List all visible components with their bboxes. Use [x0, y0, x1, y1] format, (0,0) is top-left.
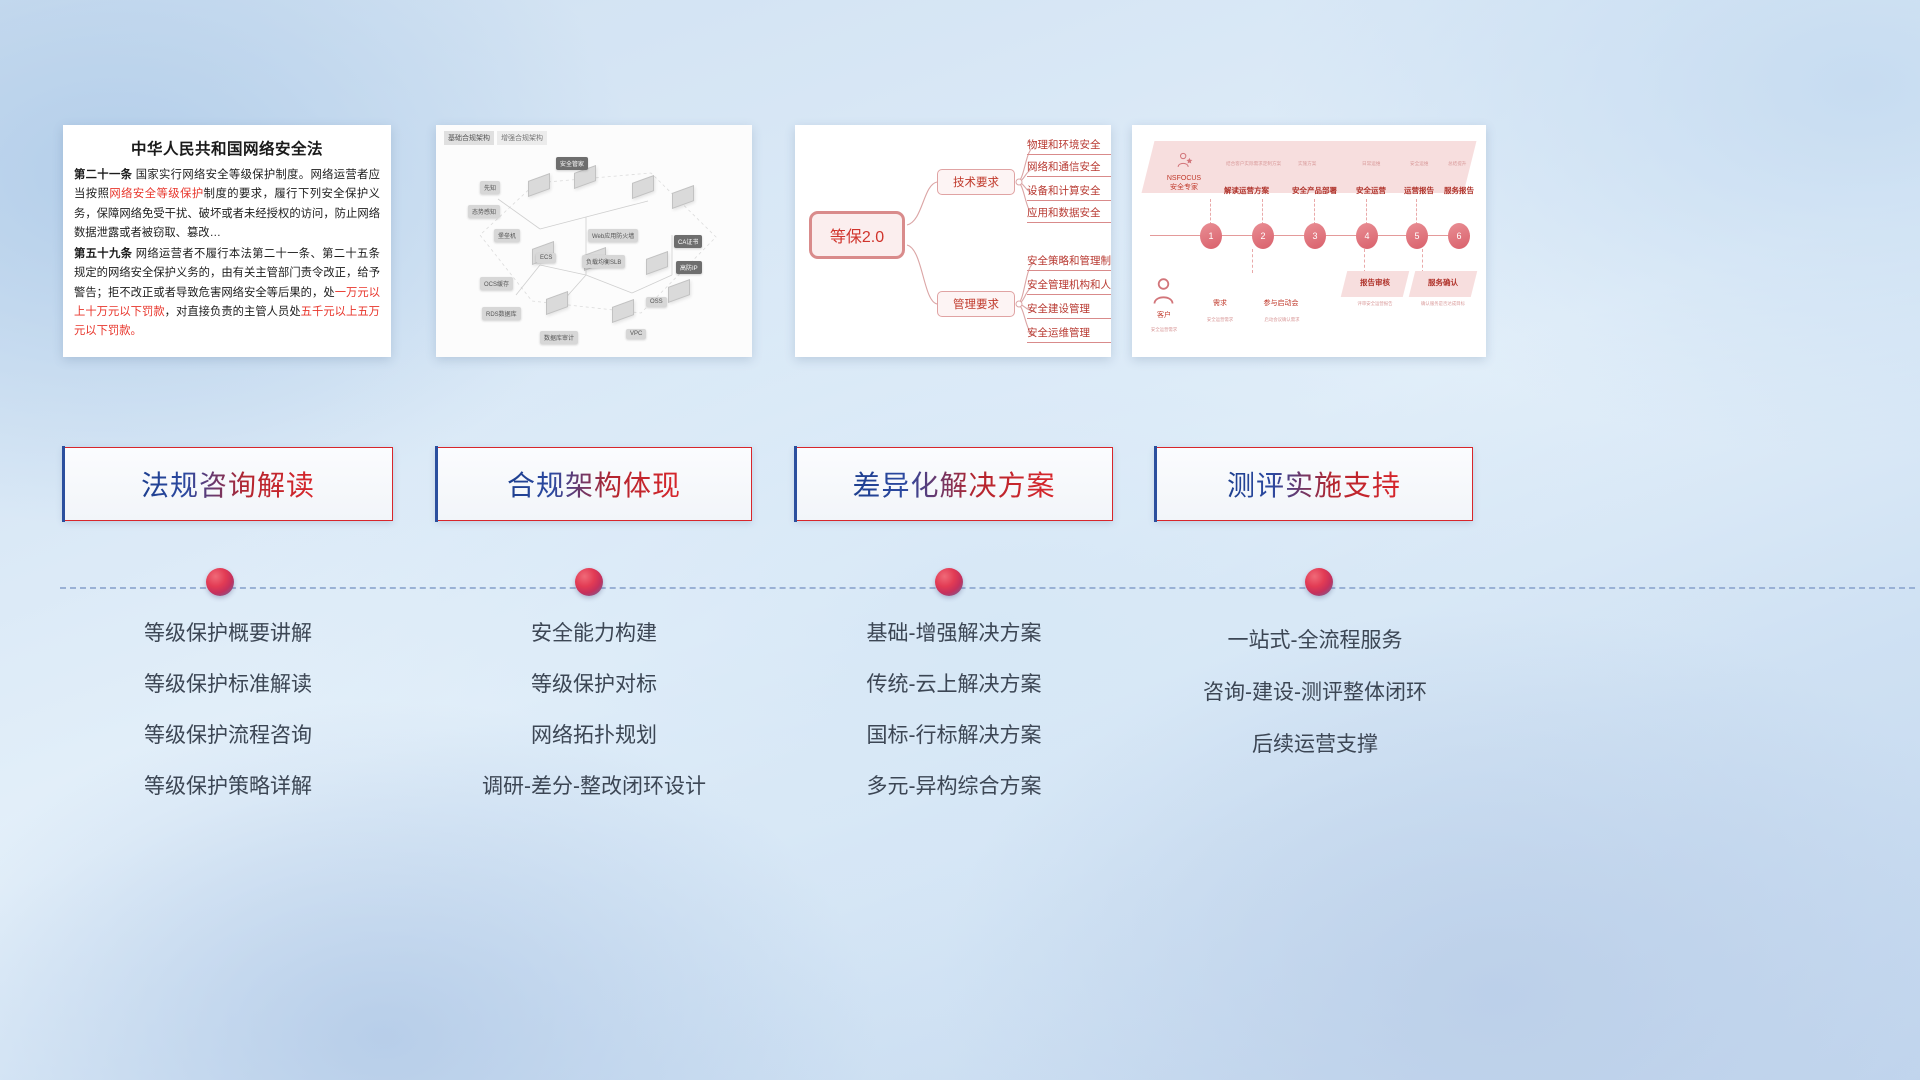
law-title: 中华人民共和国网络安全法 — [63, 137, 391, 159]
nsfocus-top-band-content: NSFOCUS 安全专家 结合客户实际需求定制方案 解读运营方案 实施方案 安全… — [1148, 141, 1470, 193]
arch-node-situational: 态势感知 — [468, 205, 500, 218]
list-item: 基础-增强解决方案 — [795, 608, 1113, 659]
title-box-differentiated-solution[interactable]: 差异化解决方案 — [795, 447, 1113, 521]
mindmap-leaf-org: 安全管理机构和人员 — [1027, 277, 1111, 295]
mindmap-leaf-physical: 物理和环境安全 — [1027, 137, 1111, 155]
nsfocus-connector-3 — [1314, 199, 1315, 225]
arch-node-db-audit: 数据库审计 — [540, 331, 578, 344]
nsfocus-connector-6 — [1252, 249, 1253, 273]
mindmap-leaf-build: 安全建设管理 — [1027, 301, 1111, 319]
arch-node-ocs: OCS缓存 — [480, 277, 513, 290]
nsfocus-step5-title: 服务报告 — [1444, 185, 1474, 196]
list-item: 咨询-建设-测评整体闭环 — [1155, 667, 1475, 719]
list-item: 传统-云上解决方案 — [795, 659, 1113, 710]
nsfocus-connector-8 — [1422, 249, 1423, 273]
nsfocus-demand-title: 需求 — [1198, 299, 1242, 308]
article-21-label: 第二十一条 — [74, 169, 132, 181]
arch-node-waf: Web应用防火墙 — [588, 229, 638, 242]
list-item: 等级保护概要讲解 — [63, 608, 393, 659]
nsfocus-step-dot-6: 6 — [1448, 223, 1470, 249]
title-text-2: 合规架构体现 — [507, 464, 681, 504]
bullet-lists-row: 等级保护概要讲解 等级保护标准解读 等级保护流程咨询 等级保护策略详解 安全能力… — [0, 608, 1920, 818]
list-item: 等级保护策略详解 — [63, 761, 393, 812]
mindmap-root-node[interactable]: 等保2.0 — [809, 211, 905, 259]
mindmap-branch-technical[interactable]: 技术要求 — [937, 169, 1015, 195]
nsfocus-expert-block: NSFOCUS 安全专家 — [1158, 151, 1210, 192]
title-box-compliance-architecture[interactable]: 合规架构体现 — [436, 447, 752, 521]
timeline-dot-2[interactable] — [575, 568, 603, 596]
nsfocus-report-review-sub: 评审安全运营报告 — [1338, 301, 1412, 307]
title-text-1: 法规咨询解读 — [141, 464, 315, 504]
law-body: 第二十一条 国家实行网络安全等级保护制度。网络运营者应当按照网络安全等级保护制度… — [63, 159, 391, 342]
list-item: 后续运营支撑 — [1155, 719, 1475, 771]
article-21-highlight: 网络安全等级保护 — [109, 188, 203, 200]
arch-node-ecs: ECS — [536, 253, 556, 263]
nsfocus-service-confirm-sub: 确认服务是否达成目标 — [1404, 301, 1482, 307]
nsfocus-step1-sub: 结合客户实际需求定制方案 — [1226, 161, 1281, 167]
arch-node-xianzhi: 先知 — [480, 181, 500, 194]
top-cards-row: 中华人民共和国网络安全法 第二十一条 国家实行网络安全等级保护制度。网络运营者应… — [0, 125, 1920, 357]
nsfocus-step4-title: 运营报告 — [1404, 185, 1434, 196]
title-box-evaluation-support[interactable]: 测评实施支持 — [1155, 447, 1473, 521]
card-compliance-architecture[interactable]: 基础合规架构 增强合规架构 — [436, 125, 752, 357]
mindmap: 等保2.0 技术要求 管理要求 物理和环境安全 网络和通信安全 设备和计算安全 … — [795, 125, 1111, 357]
arch-node-ca-cert: CA证书 — [674, 235, 702, 248]
article-59-label: 第五十九条 — [74, 248, 132, 260]
nsfocus-connector-7 — [1364, 249, 1365, 273]
list-differentiated-solution: 基础-增强解决方案 传统-云上解决方案 国标-行标解决方案 多元-异构综合方案 — [795, 608, 1113, 812]
timeline-dot-4[interactable] — [1305, 568, 1333, 596]
arch-node-anti-ddos: 高防IP — [676, 261, 702, 274]
nsfocus-demand-sub: 安全运营需求 — [1190, 317, 1250, 323]
arch-node-security-butler: 安全管家 — [556, 157, 588, 170]
nsfocus-flow: NSFOCUS 安全专家 结合客户实际需求定制方案 解读运营方案 实施方案 安全… — [1132, 125, 1486, 357]
list-item: 等级保护对标 — [436, 659, 752, 710]
nsfocus-connector-1 — [1210, 199, 1211, 225]
arch-node-rds: RDS数据库 — [482, 307, 521, 320]
mindmap-branch-management[interactable]: 管理要求 — [937, 291, 1015, 317]
nsfocus-connector-5 — [1416, 199, 1417, 225]
article-59-text-b: ，对直接负责的主管人员处 — [165, 306, 301, 318]
list-item: 国标-行标解决方案 — [795, 710, 1113, 761]
expert-label-line2: 安全专家 — [1158, 184, 1210, 193]
mindmap-leaf-ops: 安全运维管理 — [1027, 325, 1111, 343]
nsfocus-report-review-title: 报告审核 — [1344, 277, 1406, 288]
section-title-row: 法规咨询解读 合规架构体现 差异化解决方案 测评实施支持 — [0, 447, 1920, 521]
nsfocus-kickoff-title: 参与启动会 — [1250, 299, 1312, 308]
nsfocus-step3-title: 安全运营 — [1356, 185, 1386, 196]
list-item: 网络拓扑规划 — [436, 710, 752, 761]
arch-node-oss: OSS — [646, 297, 667, 307]
arch-node-vpc: VPC — [626, 329, 646, 339]
timeline-dot-3[interactable] — [935, 568, 963, 596]
list-item: 多元-异构综合方案 — [795, 761, 1113, 812]
mindmap-leaf-app-data: 应用和数据安全 — [1027, 205, 1111, 223]
list-item: 一站式-全流程服务 — [1155, 615, 1475, 667]
timeline — [60, 568, 1920, 608]
card-nsfocus-service-flow[interactable]: NSFOCUS 安全专家 结合客户实际需求定制方案 解读运营方案 实施方案 安全… — [1132, 125, 1486, 357]
law-article-21: 第二十一条 国家实行网络安全等级保护制度。网络运营者应当按照网络安全等级保护制度… — [74, 166, 380, 244]
nsfocus-step4-sub: 安全运维 — [1410, 161, 1428, 167]
timeline-dashed-line — [60, 587, 1915, 589]
nsfocus-connector-2 — [1262, 199, 1263, 225]
list-compliance-architecture: 安全能力构建 等级保护对标 网络拓扑规划 调研-差分-整改闭环设计 — [436, 608, 752, 812]
list-item: 安全能力构建 — [436, 608, 752, 659]
nsfocus-step2-title: 安全产品部署 — [1292, 185, 1337, 196]
card-mindmap-dengbao[interactable]: 等保2.0 技术要求 管理要求 物理和环境安全 网络和通信安全 设备和计算安全 … — [795, 125, 1111, 357]
nsfocus-step2-sub: 实施方案 — [1298, 161, 1316, 167]
list-regulation-consulting: 等级保护概要讲解 等级保护标准解读 等级保护流程咨询 等级保护策略详解 — [63, 608, 393, 812]
nsfocus-kickoff-sub: 启动会议确认需求 — [1244, 317, 1320, 323]
customer-person-icon — [1142, 275, 1188, 311]
law-article-59: 第五十九条 网络运营者不履行本法第二十一条、第二十五条规定的网络安全保护义务的，… — [74, 245, 380, 342]
nsfocus-step-dot-2: 2 — [1252, 223, 1274, 249]
mindmap-leaf-network: 网络和通信安全 — [1027, 159, 1111, 177]
nsfocus-step3-sub: 日常运维 — [1362, 161, 1380, 167]
nsfocus-service-confirm-title: 服务确认 — [1412, 277, 1474, 288]
card-cybersecurity-law[interactable]: 中华人民共和国网络安全法 第二十一条 国家实行网络安全等级保护制度。网络运营者应… — [63, 125, 391, 357]
nsfocus-customer-sub: 安全运营需求 — [1132, 327, 1196, 333]
nsfocus-step-dot-5: 5 — [1406, 223, 1428, 249]
title-box-regulation-consulting[interactable]: 法规咨询解读 — [63, 447, 393, 521]
arch-node-bastion: 堡垒机 — [494, 229, 520, 242]
architecture-diagram: 基础合规架构 增强合规架构 — [436, 125, 752, 357]
list-item: 等级保护标准解读 — [63, 659, 393, 710]
mindmap-leaf-policy: 安全策略和管理制度 — [1027, 253, 1111, 271]
list-item: 等级保护流程咨询 — [63, 710, 393, 761]
arch-node-slb: 负载均衡SLB — [582, 255, 625, 268]
nsfocus-step-dot-3: 3 — [1304, 223, 1326, 249]
nsfocus-connector-4 — [1366, 199, 1367, 225]
mindmap-leaf-device: 设备和计算安全 — [1027, 183, 1111, 201]
nsfocus-step1-title: 解读运营方案 — [1224, 185, 1269, 196]
title-text-3: 差异化解决方案 — [852, 464, 1055, 504]
expert-person-icon — [1174, 151, 1194, 171]
list-item: 调研-差分-整改闭环设计 — [436, 761, 752, 812]
list-evaluation-support: 一站式-全流程服务 咨询-建设-测评整体闭环 后续运营支撑 — [1155, 615, 1475, 771]
expert-label-line1: NSFOCUS — [1158, 175, 1210, 184]
nsfocus-step-dot-1: 1 — [1200, 223, 1222, 249]
title-text-4: 测评实施支持 — [1227, 464, 1401, 504]
timeline-dot-1[interactable] — [206, 568, 234, 596]
nsfocus-customer-title: 客户 — [1138, 311, 1190, 320]
nsfocus-step-dot-4: 4 — [1356, 223, 1378, 249]
nsfocus-step5-sub: 总结提升 — [1448, 161, 1466, 167]
